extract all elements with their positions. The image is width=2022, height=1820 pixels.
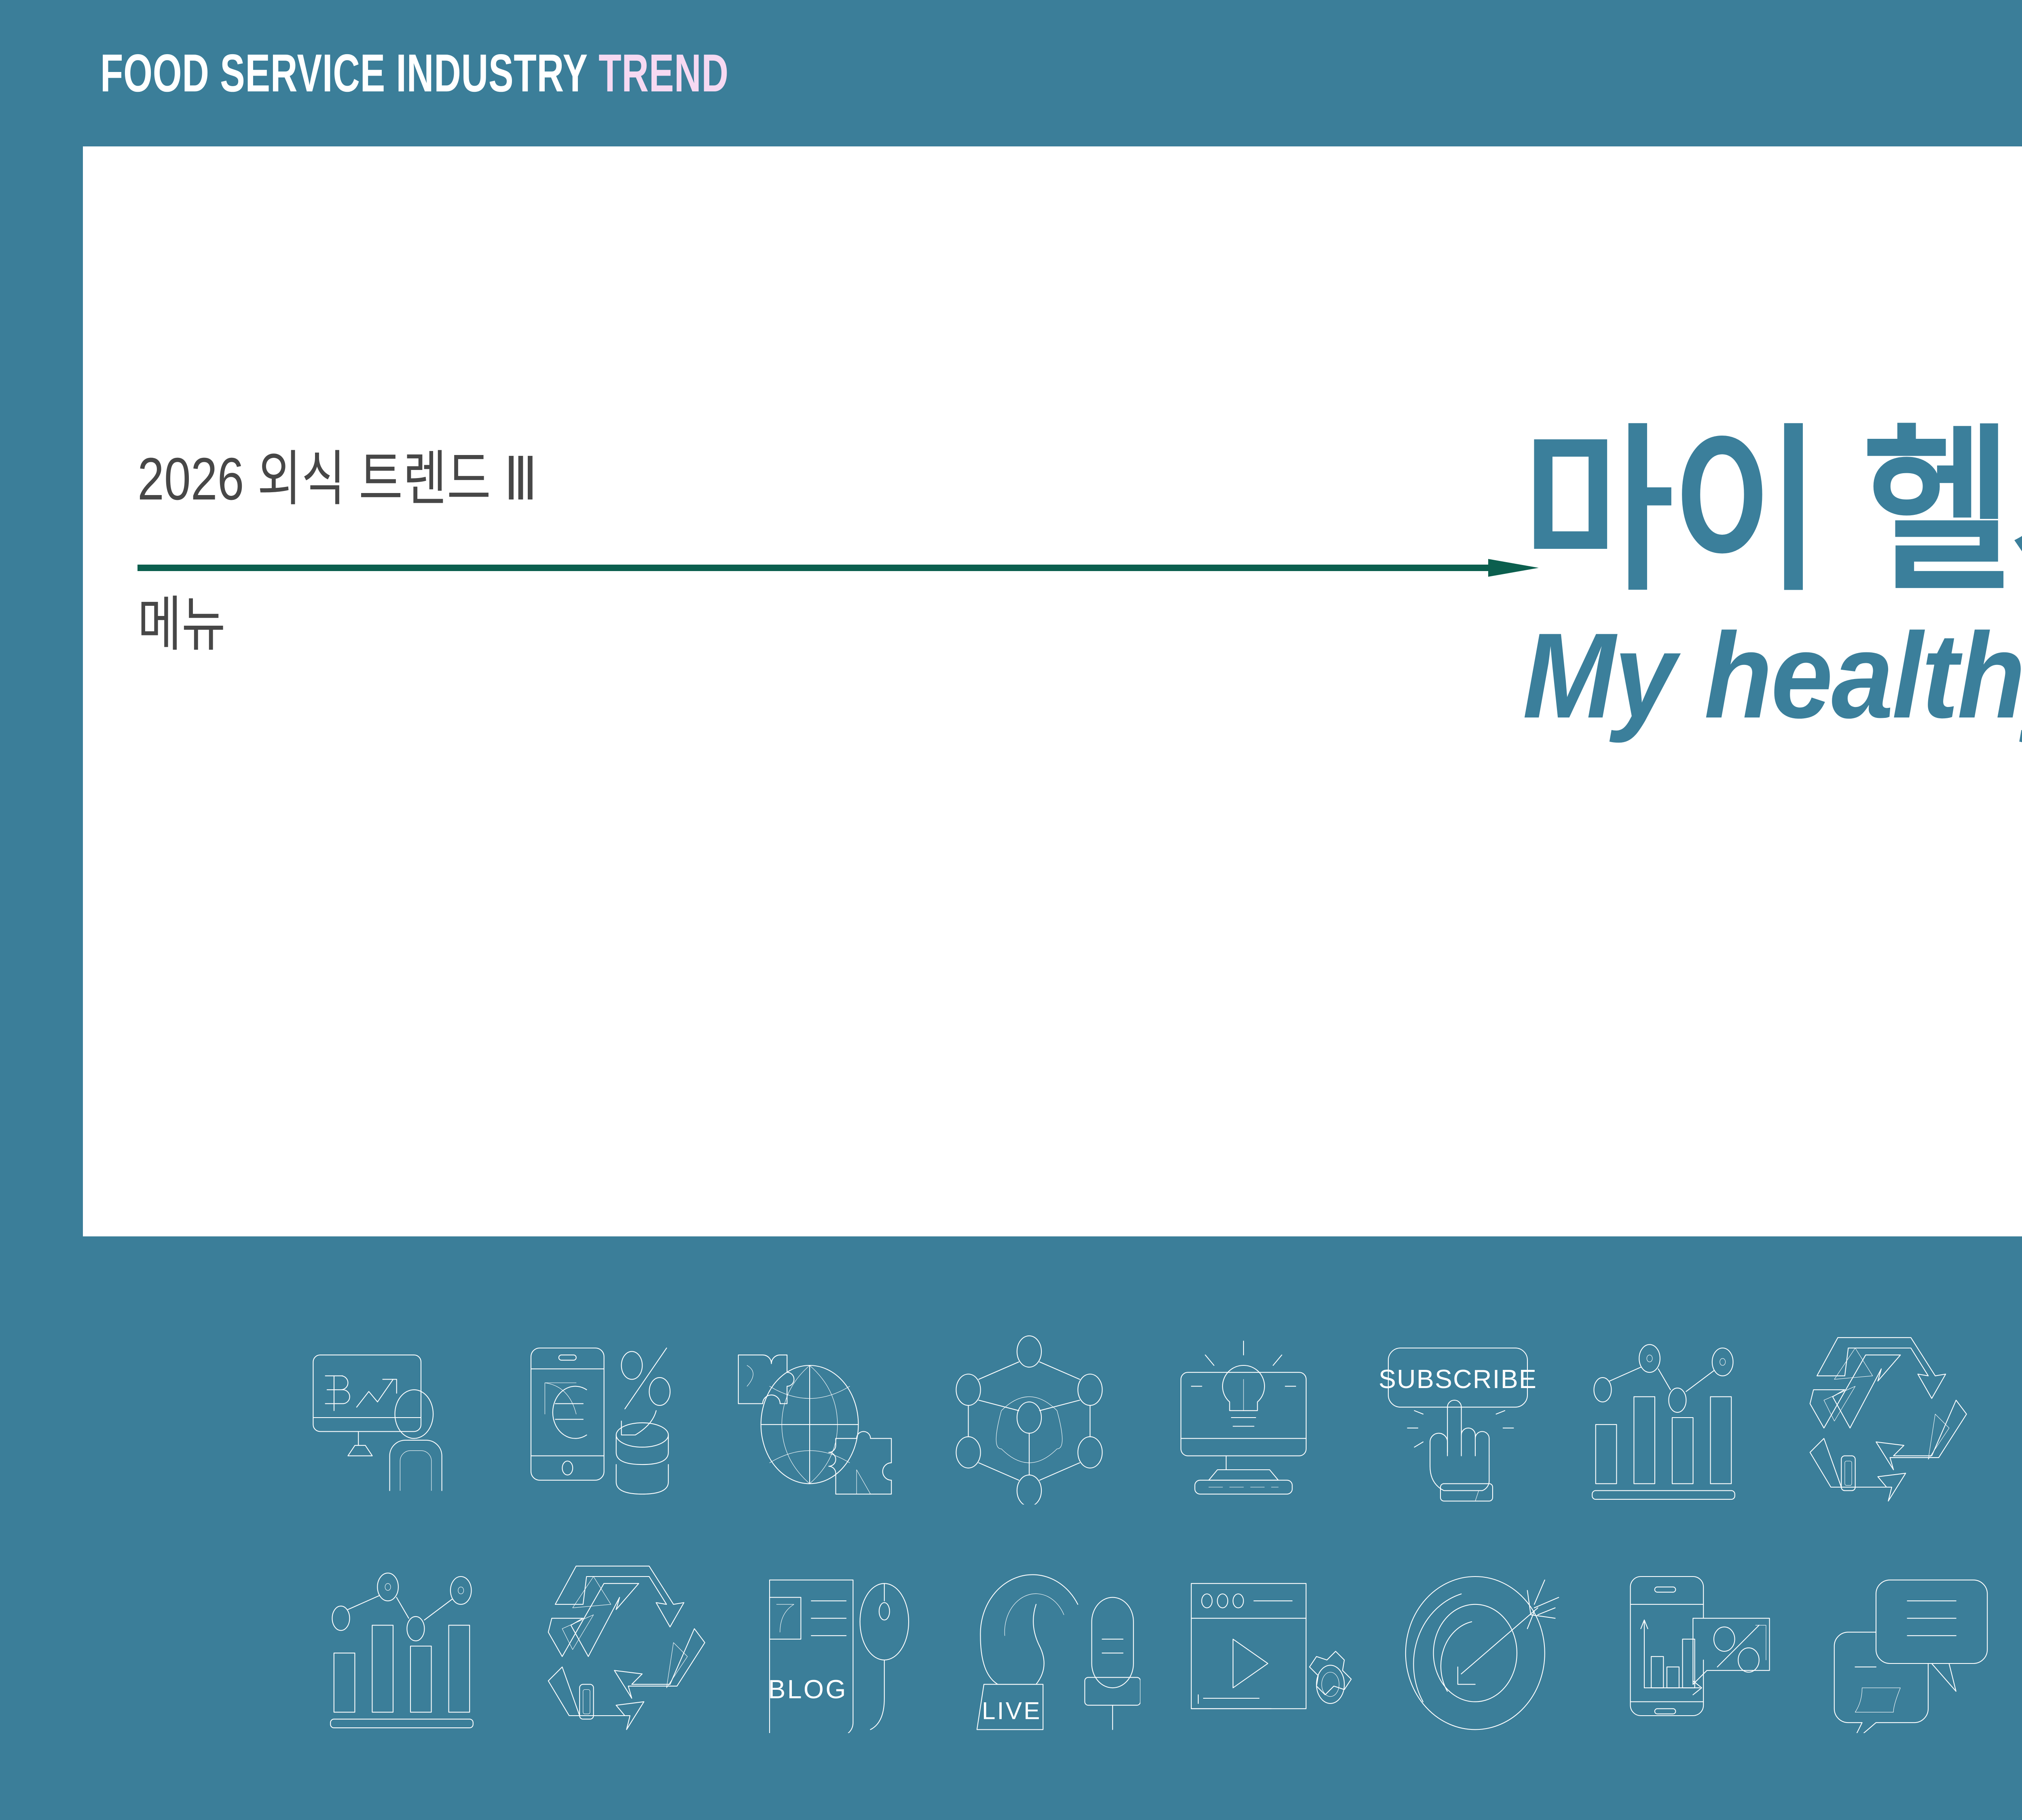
euro-mobile-payment-coins-percent-icon: [493, 1316, 708, 1519]
globe-puzzle-integration-icon: [708, 1316, 922, 1519]
blog-page-mouse-icon: BLOG: [1994, 1316, 2022, 1519]
slide-title-english-teal: My healthy: [1523, 607, 2022, 743]
eyebrow-heading: FOOD SERVICE INDUSTRY TREND: [100, 47, 729, 100]
live-stream-microphone-icon: LIVE: [946, 1545, 1161, 1747]
recycling-arrows-leaf-icon: [518, 1545, 732, 1747]
section-label-line2: 메뉴: [137, 591, 226, 658]
green-arrow-divider: [137, 557, 1539, 581]
content-card: 2026 외식 트렌드 Ⅲ 메뉴 마이 헬시 다이닝 My healthy di…: [83, 146, 2022, 1236]
slide-header-strip: FOOD SERVICE INDUSTRY TREND: [0, 0, 2022, 146]
slide-title-korean: 마이 헬시 다이닝: [1523, 421, 2022, 603]
blog-label: BLOG: [768, 1675, 847, 1704]
eyebrow-pink-text: TREND: [599, 43, 729, 103]
slide-title-block: 마이 헬시 다이닝 My healthy dining: [1523, 421, 2022, 737]
recycling-arrows-leaf-icon: [1779, 1316, 1994, 1519]
subscribe-label: SUBSCRIBE: [1379, 1365, 1537, 1394]
section-label-line1: 2026 외식 트렌드 Ⅲ: [137, 446, 1257, 513]
bar-chart-line-analytics-icon: [303, 1545, 518, 1747]
bar-chart-line-analytics-icon: [1565, 1316, 1779, 1519]
blog-page-mouse-icon: BLOG: [732, 1545, 946, 1747]
section-label-group-2: 메뉴: [137, 591, 247, 658]
video-player-settings-gear-icon: [1161, 1545, 1375, 1747]
mobile-analytics-percent-bubble-icon: [1589, 1545, 1804, 1747]
target-arrow-bullseye-icon: [1375, 1545, 1589, 1747]
bitcoin-growth-chart-monitor-icon: [279, 1316, 493, 1519]
robot-arm-coffee-cup-icon: [2018, 1545, 2022, 1747]
live-label: LIVE: [982, 1697, 1042, 1725]
network-nodes-cube-icon: [922, 1316, 1136, 1519]
icon-row-2: BLOG LIVE: [0, 1533, 2022, 1759]
chat-message-bubbles-icon: [1804, 1545, 2018, 1747]
slide-title-english: My healthy dining: [1523, 614, 2022, 737]
slide-title-korean-teal: 마이 헬시: [1523, 413, 2022, 611]
section-label-group: 2026 외식 트렌드 Ⅲ: [137, 446, 1537, 513]
decorative-icon-strip: SUBSCRIBE: [0, 1268, 2022, 1820]
idea-lightbulb-desktop-icon: [1136, 1316, 1351, 1519]
eyebrow-space: [588, 43, 599, 103]
subscribe-button-hand-click-icon: SUBSCRIBE: [1351, 1316, 1565, 1519]
eyebrow-white-text: FOOD SERVICE INDUSTRY: [100, 43, 588, 103]
icon-row-1: SUBSCRIBE: [0, 1304, 2022, 1531]
